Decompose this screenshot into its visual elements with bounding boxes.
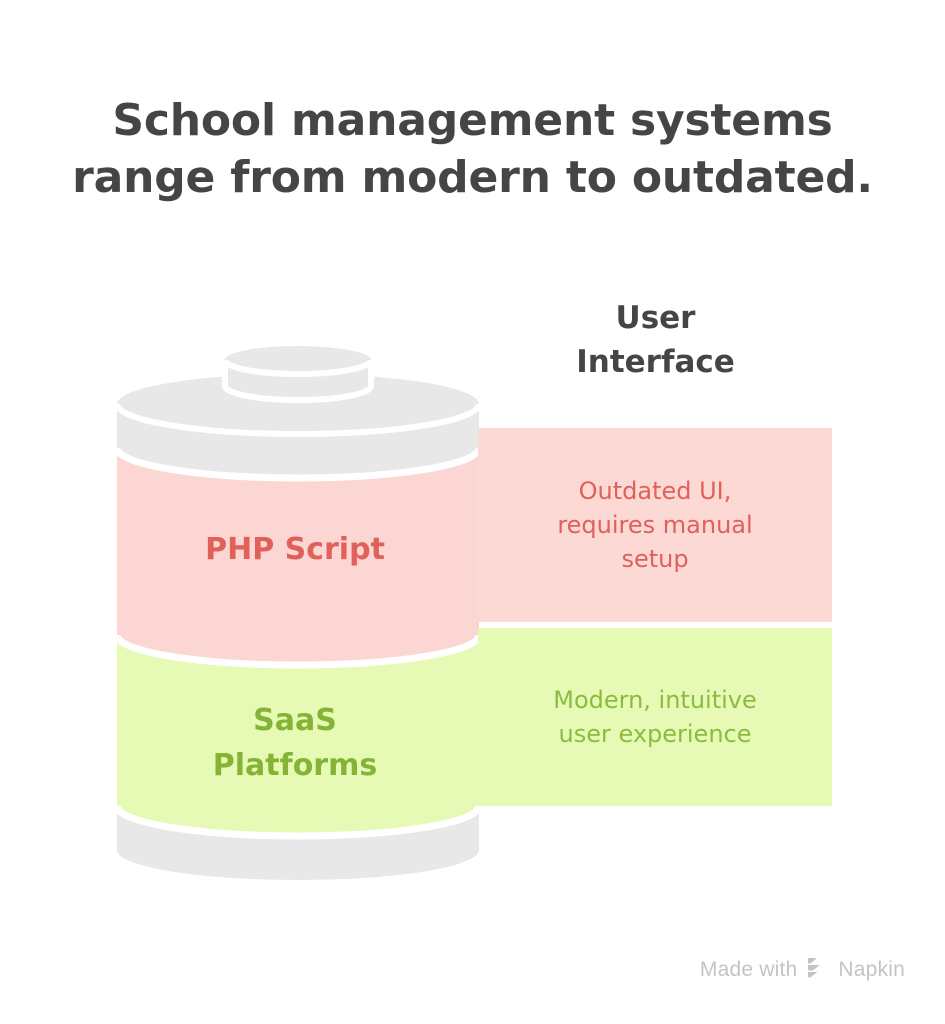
page-title-line-1: School management systems <box>0 92 945 149</box>
column-header-user-interface: User Interface <box>478 296 833 384</box>
panel-modern-ux-text: Modern, intuitive user experience <box>535 683 775 751</box>
cylinder-top-knob <box>225 346 371 400</box>
watermark-prefix-text: Made with <box>700 958 798 982</box>
panel-outdated-ui: Outdated UI, requires manual setup <box>478 428 832 622</box>
column-header-line-1: User <box>478 296 833 340</box>
page-title-line-2: range from modern to outdated. <box>0 149 945 206</box>
panel-outdated-ui-text: Outdated UI, requires manual setup <box>539 474 770 576</box>
watermark-brand-text: Napkin <box>838 958 905 982</box>
napkin-logo-icon <box>806 956 829 985</box>
panel-modern-ux-line-1: Modern, intuitive <box>553 683 757 717</box>
panel-modern-ux: Modern, intuitive user experience <box>478 628 832 806</box>
napkin-watermark: Made with Napkin <box>700 955 905 985</box>
layered-cylinder-diagram <box>110 338 485 883</box>
page-title: School management systems range from mod… <box>0 92 945 206</box>
column-header-line-2: Interface <box>478 340 833 384</box>
panel-outdated-ui-line-1: Outdated UI, <box>557 474 752 508</box>
panel-outdated-ui-line-2: requires manual <box>557 508 752 542</box>
panel-modern-ux-line-2: user experience <box>553 717 757 751</box>
panel-outdated-ui-line-3: setup <box>557 542 752 576</box>
